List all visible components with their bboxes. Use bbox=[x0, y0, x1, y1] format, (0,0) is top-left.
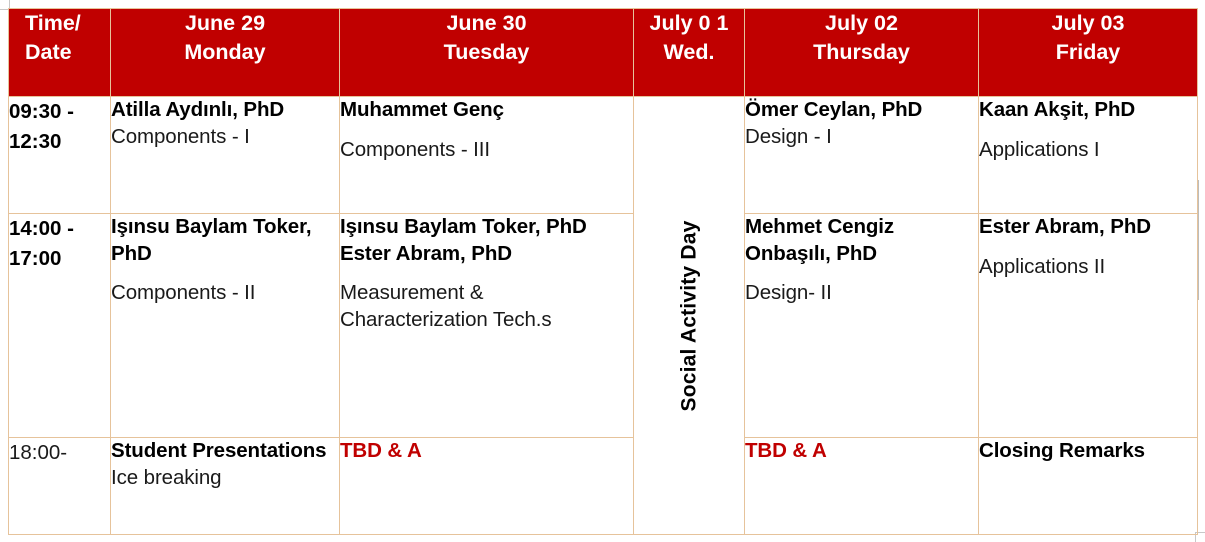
session-speaker-2: Ester Abram, PhD bbox=[340, 241, 633, 268]
column-header-tuesday-date: June 30 bbox=[340, 9, 633, 38]
session-friday-afternoon[interactable]: Ester Abram, PhD Applications II bbox=[979, 214, 1198, 438]
schedule-slide: Time/ Date June 29 Monday June 30 Tuesda… bbox=[0, 0, 1205, 542]
session-monday-afternoon[interactable]: Işınsu Baylam Toker, PhD Components - II bbox=[111, 214, 340, 438]
column-header-tuesday: June 30 Tuesday bbox=[340, 9, 634, 97]
session-tuesday-afternoon[interactable]: Işınsu Baylam Toker, PhD Ester Abram, Ph… bbox=[340, 214, 634, 438]
column-header-monday-date: June 29 bbox=[111, 9, 339, 38]
column-header-thursday-date: July 02 bbox=[745, 9, 978, 38]
session-topic: Design - I bbox=[745, 124, 978, 151]
session-speaker: Closing Remarks bbox=[979, 438, 1197, 465]
session-speaker: Student Presentations bbox=[111, 438, 339, 465]
column-header-time-line1: Time/ bbox=[25, 9, 110, 38]
session-topic: Components - I bbox=[111, 124, 339, 151]
spacer bbox=[979, 241, 1197, 254]
session-topic: Applications II bbox=[979, 254, 1197, 281]
table-row: 09:30 - 12:30 Atilla Aydınlı, PhD Compon… bbox=[9, 97, 1198, 214]
table-row: 14:00 - 17:00 Işınsu Baylam Toker, PhD C… bbox=[9, 214, 1198, 438]
session-friday-morning[interactable]: Kaan Akşit, PhD Applications I bbox=[979, 97, 1198, 214]
session-speaker: Atilla Aydınlı, PhD bbox=[111, 97, 339, 124]
social-activity-day-label: Social Activity Day bbox=[677, 220, 701, 411]
column-header-tuesday-day: Tuesday bbox=[340, 38, 633, 67]
spacer bbox=[979, 124, 1197, 137]
table-row: 18:00- Student Presentations Ice breakin… bbox=[9, 438, 1198, 535]
social-activity-day-wrapper: Social Activity Day bbox=[634, 97, 744, 534]
session-tuesday-evening[interactable]: TBD & A bbox=[340, 438, 634, 535]
column-header-time-line2: Date bbox=[25, 38, 110, 67]
session-speaker: Işınsu Baylam Toker, PhD bbox=[111, 214, 339, 267]
session-thursday-evening[interactable]: TBD & A bbox=[745, 438, 979, 535]
time-slot-evening: 18:00- bbox=[9, 438, 111, 535]
time-slot-afternoon: 14:00 - 17:00 bbox=[9, 214, 111, 438]
column-header-thursday-day: Thursday bbox=[745, 38, 978, 67]
session-thursday-afternoon[interactable]: Mehmet Cengiz Onbaşılı, PhD Design- II bbox=[745, 214, 979, 438]
session-thursday-morning[interactable]: Ömer Ceylan, PhD Design - I bbox=[745, 97, 979, 214]
column-header-wednesday: July 0 1 Wed. bbox=[634, 9, 745, 97]
session-topic: Components - III bbox=[340, 137, 633, 164]
time-slot-morning-line2: 12:30 bbox=[9, 127, 110, 157]
time-slot-afternoon-line2: 17:00 bbox=[9, 244, 110, 274]
session-speaker: Işınsu Baylam Toker, PhD bbox=[340, 214, 633, 241]
session-topic: Ice breaking bbox=[111, 465, 339, 492]
session-topic: Applications I bbox=[979, 137, 1197, 164]
session-speaker: Kaan Akşit, PhD bbox=[979, 97, 1197, 124]
session-tuesday-morning[interactable]: Muhammet Genç Components - III bbox=[340, 97, 634, 214]
session-friday-evening[interactable]: Closing Remarks bbox=[979, 438, 1198, 535]
session-speaker: Mehmet Cengiz Onbaşılı, PhD bbox=[745, 214, 978, 267]
column-header-friday-date: July 03 bbox=[979, 9, 1197, 38]
spacer bbox=[745, 267, 978, 280]
time-slot-morning-line1: 09:30 - bbox=[9, 97, 110, 127]
session-topic: Components - II bbox=[111, 280, 339, 307]
session-speaker-tbd: TBD & A bbox=[745, 438, 978, 465]
table-header-row: Time/ Date June 29 Monday June 30 Tuesda… bbox=[9, 9, 1198, 97]
session-topic: Design- II bbox=[745, 280, 978, 307]
spacer bbox=[111, 267, 339, 280]
session-speaker: Muhammet Genç bbox=[340, 97, 633, 124]
column-header-friday-day: Friday bbox=[979, 38, 1197, 67]
schedule-table: Time/ Date June 29 Monday June 30 Tuesda… bbox=[8, 8, 1198, 535]
social-activity-day-cell[interactable]: Social Activity Day bbox=[634, 97, 745, 535]
time-slot-evening-line1: 18:00- bbox=[9, 438, 110, 468]
session-speaker-tbd: TBD & A bbox=[340, 438, 633, 465]
spacer bbox=[340, 267, 633, 280]
column-header-monday: June 29 Monday bbox=[111, 9, 340, 97]
column-header-wednesday-day: Wed. bbox=[634, 38, 744, 67]
column-header-friday: July 03 Friday bbox=[979, 9, 1198, 97]
slide-edge-marker-right bbox=[1198, 180, 1205, 300]
time-slot-afternoon-line1: 14:00 - bbox=[9, 214, 110, 244]
session-speaker: Ester Abram, PhD bbox=[979, 214, 1197, 241]
column-header-thursday: July 02 Thursday bbox=[745, 9, 979, 97]
session-monday-evening[interactable]: Student Presentations Ice breaking bbox=[111, 438, 340, 535]
session-speaker: Ömer Ceylan, PhD bbox=[745, 97, 978, 124]
session-monday-morning[interactable]: Atilla Aydınlı, PhD Components - I bbox=[111, 97, 340, 214]
column-header-monday-day: Monday bbox=[111, 38, 339, 67]
time-slot-morning: 09:30 - 12:30 bbox=[9, 97, 111, 214]
column-header-time: Time/ Date bbox=[9, 9, 111, 97]
session-topic: Measurement & Characterization Tech.s bbox=[340, 280, 633, 333]
spacer bbox=[340, 124, 633, 137]
column-header-wednesday-date: July 0 1 bbox=[634, 9, 744, 38]
